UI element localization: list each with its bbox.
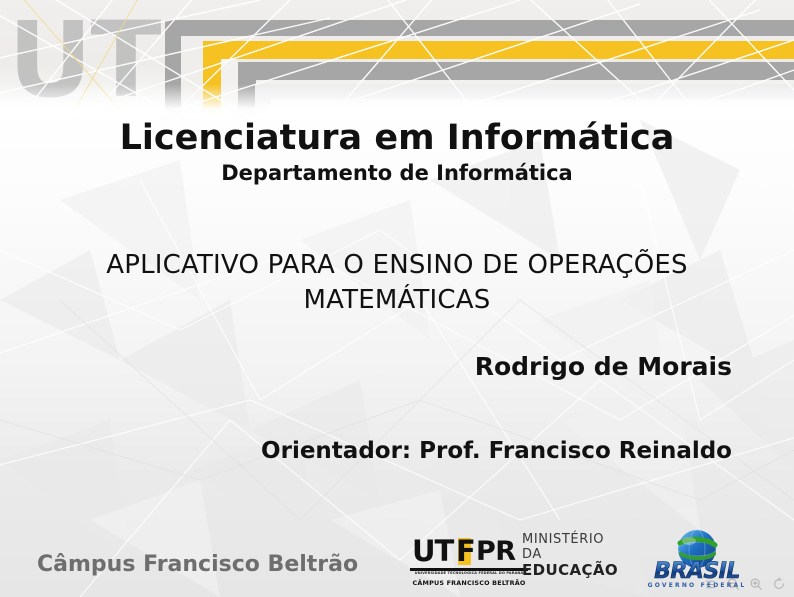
zoom-out-icon[interactable] bbox=[726, 577, 740, 591]
department-subtitle: Departamento de Informática bbox=[0, 160, 794, 186]
header-banner: UT bbox=[0, 0, 794, 118]
mec-logo: MINISTÉRIO DA EDUCAÇÃO bbox=[522, 532, 618, 579]
zoom-in-icon[interactable] bbox=[749, 577, 763, 591]
footer-logos: UT F PR UNIVERSIDADE TECNOLÓGICA FEDERAL… bbox=[0, 519, 794, 597]
utfpr-logo: UT F PR UNIVERSIDADE TECNOLÓGICA FEDERAL… bbox=[410, 537, 528, 588]
banner-stripe-yellow bbox=[203, 41, 794, 59]
utfpr-campus-text: CÂMPUS FRANCISCO BELTRÃO bbox=[410, 578, 528, 588]
banner-stripe-gray-inner bbox=[238, 62, 794, 80]
banner-stripe-gray-outer bbox=[165, 20, 794, 36]
utfpr-pr-text: PR bbox=[476, 538, 516, 565]
author-name: Rodrigo de Morais bbox=[475, 352, 732, 381]
presentation-slide: UT bbox=[0, 0, 794, 597]
mec-line-2: EDUCAÇÃO bbox=[522, 562, 618, 579]
utfpr-f-text: F bbox=[456, 537, 475, 566]
banner-bottom-fade bbox=[0, 84, 794, 118]
page-title: Licenciatura em Informática bbox=[0, 118, 794, 158]
advisor-name: Orientador: Prof. Francisco Reinaldo bbox=[261, 438, 732, 464]
viewer-controls[interactable] bbox=[704, 577, 786, 591]
mec-line-1: MINISTÉRIO DA bbox=[522, 532, 618, 562]
utfpr-ut-text: UT bbox=[412, 537, 453, 566]
rotate-icon[interactable] bbox=[772, 577, 786, 591]
utfpr-fine-print: UNIVERSIDADE TECNOLÓGICA FEDERAL DO PARA… bbox=[410, 571, 528, 576]
menu-icon[interactable] bbox=[704, 578, 717, 591]
project-title: APLICATIVO PARA O ENSINO DE OPERAÇÕES MA… bbox=[60, 248, 734, 318]
